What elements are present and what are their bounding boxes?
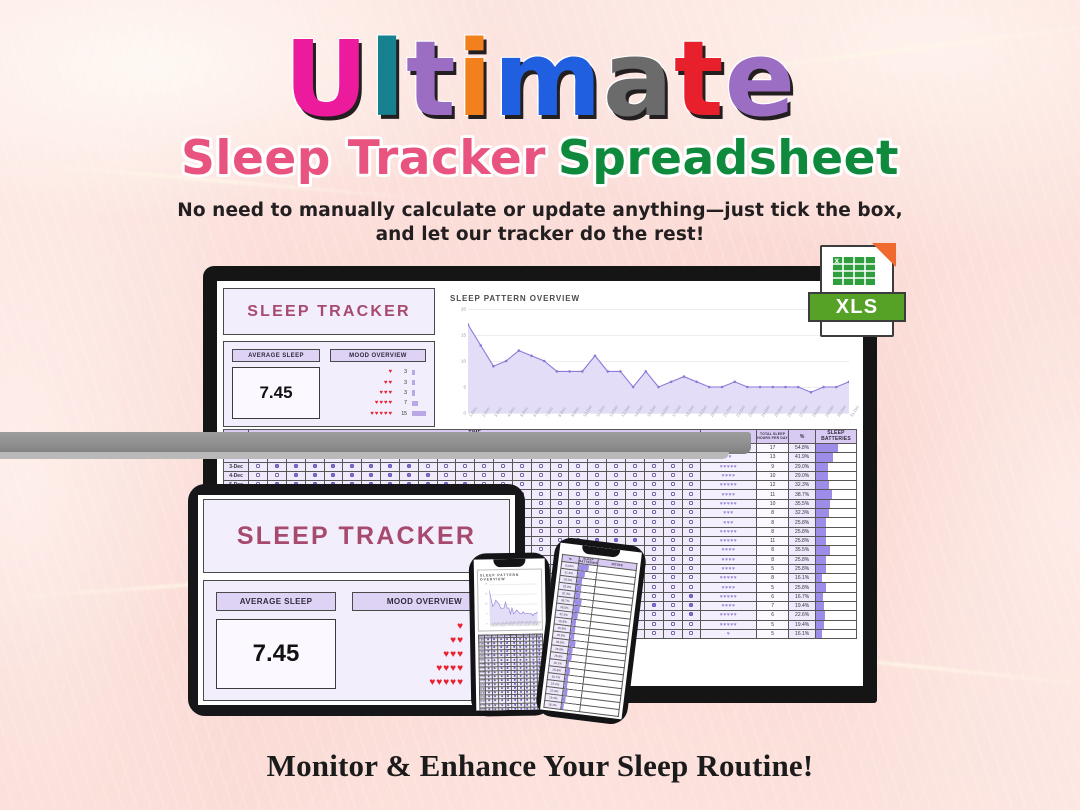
cell-time-slot[interactable]: [399, 471, 418, 480]
sleep-checkbox[interactable]: [671, 529, 675, 533]
sleep-checkbox[interactable]: [514, 687, 516, 689]
sleep-checkbox[interactable]: [652, 575, 656, 579]
sleep-checkbox[interactable]: [520, 683, 522, 685]
sleep-checkbox[interactable]: [488, 679, 490, 681]
sleep-checkbox[interactable]: [652, 464, 656, 468]
sleep-checkbox[interactable]: [595, 501, 599, 505]
sleep-checkbox[interactable]: [689, 575, 693, 579]
cell-time-slot[interactable]: [663, 471, 682, 480]
sleep-checkbox[interactable]: [576, 501, 580, 505]
sleep-checkbox[interactable]: [388, 473, 392, 477]
sleep-checkbox[interactable]: [488, 663, 490, 665]
cell-time-slot[interactable]: [682, 546, 701, 555]
sleep-checkbox[interactable]: [513, 658, 515, 660]
sleep-checkbox[interactable]: [507, 687, 509, 689]
sleep-checkbox[interactable]: [488, 700, 490, 702]
sleep-checkbox[interactable]: [501, 675, 503, 677]
sleep-checkbox[interactable]: [513, 650, 515, 652]
sleep-checkbox[interactable]: [313, 464, 317, 468]
sleep-checkbox[interactable]: [532, 642, 534, 644]
sleep-checkbox[interactable]: [671, 501, 675, 505]
cell-time-slot[interactable]: [682, 536, 701, 545]
cell-time-slot[interactable]: [512, 462, 531, 471]
sleep-checkbox[interactable]: [576, 482, 580, 486]
sleep-checkbox[interactable]: [500, 638, 502, 640]
sleep-checkbox[interactable]: [614, 538, 618, 542]
cell-time-slot[interactable]: [588, 471, 607, 480]
sleep-checkbox[interactable]: [533, 679, 535, 681]
sleep-checkbox[interactable]: [671, 612, 675, 616]
cell-time-slot[interactable]: [305, 471, 324, 480]
cell-time-slot[interactable]: [644, 602, 663, 611]
cell-time-slot[interactable]: [418, 462, 437, 471]
cell-time-slot[interactable]: [682, 611, 701, 620]
sleep-checkbox[interactable]: [652, 612, 656, 616]
sleep-checkbox[interactable]: [426, 464, 430, 468]
sleep-checkbox[interactable]: [689, 473, 693, 477]
sleep-checkbox[interactable]: [331, 473, 335, 477]
cell-time-slot[interactable]: [682, 592, 701, 601]
sleep-checkbox[interactable]: [533, 687, 535, 689]
cell-time-slot[interactable]: [286, 462, 305, 471]
sleep-checkbox[interactable]: [576, 529, 580, 533]
sleep-checkbox[interactable]: [595, 520, 599, 524]
sleep-checkbox[interactable]: [444, 473, 448, 477]
sleep-checkbox[interactable]: [538, 638, 540, 640]
sleep-checkbox[interactable]: [513, 667, 515, 669]
sleep-checkbox[interactable]: [519, 658, 521, 660]
sleep-checkbox[interactable]: [444, 464, 448, 468]
sleep-checkbox[interactable]: [526, 691, 528, 693]
sleep-checkbox[interactable]: [526, 670, 528, 672]
sleep-checkbox[interactable]: [488, 708, 490, 710]
cell-time-slot[interactable]: [607, 518, 626, 527]
sleep-checkbox[interactable]: [526, 679, 528, 681]
sleep-checkbox[interactable]: [633, 492, 637, 496]
cell-time-slot[interactable]: [569, 527, 588, 536]
cell-time-slot[interactable]: [588, 499, 607, 508]
cell-time-slot[interactable]: [644, 527, 663, 536]
cell-time-slot[interactable]: [682, 527, 701, 536]
cell-time-slot[interactable]: [663, 527, 682, 536]
sleep-checkbox[interactable]: [500, 642, 502, 644]
sleep-checkbox[interactable]: [558, 510, 562, 514]
table-row[interactable]: 4-Dec♥♥♥♥1029.0%: [224, 471, 857, 480]
cell-time-slot[interactable]: [607, 509, 626, 518]
cell-time-slot[interactable]: [550, 462, 569, 471]
cell-time-slot[interactable]: [531, 527, 550, 536]
sleep-checkbox[interactable]: [507, 654, 509, 656]
sleep-checkbox[interactable]: [533, 674, 535, 676]
sleep-checkbox[interactable]: [520, 473, 524, 477]
sleep-checkbox[interactable]: [689, 547, 693, 551]
sleep-checkbox[interactable]: [313, 473, 317, 477]
sleep-checkbox[interactable]: [494, 683, 496, 685]
sleep-checkbox[interactable]: [689, 501, 693, 505]
sleep-checkbox[interactable]: [500, 655, 502, 657]
cell-time-slot[interactable]: [663, 481, 682, 490]
sleep-checkbox[interactable]: [539, 650, 541, 652]
cell-time-slot[interactable]: [588, 490, 607, 499]
sleep-checkbox[interactable]: [652, 547, 656, 551]
cell-time-slot[interactable]: [682, 602, 701, 611]
cell-time-slot[interactable]: [267, 462, 286, 471]
sleep-checkbox[interactable]: [633, 538, 637, 542]
cell-time-slot[interactable]: [626, 462, 645, 471]
sleep-checkbox[interactable]: [689, 464, 693, 468]
sleep-checkbox[interactable]: [520, 675, 522, 677]
cell-time-slot[interactable]: [550, 527, 569, 536]
sleep-checkbox[interactable]: [513, 671, 515, 673]
sleep-checkbox[interactable]: [527, 707, 529, 709]
sleep-checkbox[interactable]: [671, 566, 675, 570]
sleep-checkbox[interactable]: [558, 520, 562, 524]
sleep-checkbox[interactable]: [532, 662, 534, 664]
sleep-checkbox[interactable]: [526, 654, 528, 656]
cell-time-slot[interactable]: [588, 509, 607, 518]
cell-time-slot[interactable]: [663, 499, 682, 508]
sleep-checkbox[interactable]: [501, 683, 503, 685]
sleep-checkbox[interactable]: [507, 671, 509, 673]
cell-time-slot[interactable]: [607, 490, 626, 499]
cell-time-slot[interactable]: [663, 509, 682, 518]
sleep-checkbox[interactable]: [526, 658, 528, 660]
sleep-checkbox[interactable]: [652, 520, 656, 524]
sleep-checkbox[interactable]: [463, 473, 467, 477]
sleep-checkbox[interactable]: [689, 631, 693, 635]
sleep-checkbox[interactable]: [331, 464, 335, 468]
cell-time-slot[interactable]: [663, 602, 682, 611]
sleep-checkbox[interactable]: [526, 683, 528, 685]
sleep-checkbox[interactable]: [671, 464, 675, 468]
sleep-checkbox[interactable]: [507, 679, 509, 681]
sleep-checkbox[interactable]: [539, 520, 543, 524]
sleep-checkbox[interactable]: [595, 510, 599, 514]
sleep-checkbox[interactable]: [407, 464, 411, 468]
sleep-checkbox[interactable]: [614, 473, 618, 477]
sleep-checkbox[interactable]: [652, 482, 656, 486]
cell-time-slot[interactable]: [663, 555, 682, 564]
cell-time-slot[interactable]: [362, 462, 381, 471]
cell-time-slot[interactable]: [531, 536, 550, 545]
sleep-checkbox[interactable]: [633, 529, 637, 533]
sleep-checkbox[interactable]: [558, 529, 562, 533]
cell-time-slot[interactable]: [588, 518, 607, 527]
sleep-checkbox[interactable]: [482, 473, 486, 477]
sleep-checkbox[interactable]: [487, 638, 489, 640]
cell-time-slot[interactable]: [682, 555, 701, 564]
sleep-checkbox[interactable]: [514, 703, 516, 705]
cell-time-slot[interactable]: [682, 462, 701, 471]
sleep-checkbox[interactable]: [689, 557, 693, 561]
sleep-checkbox[interactable]: [689, 520, 693, 524]
sleep-checkbox[interactable]: [494, 692, 496, 694]
cell-time-slot[interactable]: [588, 462, 607, 471]
sleep-checkbox[interactable]: [520, 687, 522, 689]
cell-time-slot[interactable]: [607, 481, 626, 490]
cell-time-slot[interactable]: [682, 629, 701, 638]
sleep-checkbox[interactable]: [576, 473, 580, 477]
cell-time-slot[interactable]: [663, 629, 682, 638]
sleep-checkbox[interactable]: [507, 691, 509, 693]
sleep-checkbox[interactable]: [500, 671, 502, 673]
sleep-checkbox[interactable]: [488, 667, 490, 669]
sleep-checkbox[interactable]: [633, 464, 637, 468]
cell-time-slot[interactable]: [381, 471, 400, 480]
sleep-checkbox[interactable]: [494, 675, 496, 677]
cell-time-slot[interactable]: [682, 564, 701, 573]
cell-time-slot[interactable]: [343, 462, 362, 471]
cell-time-slot[interactable]: [569, 499, 588, 508]
cell-time-slot[interactable]: [663, 611, 682, 620]
cell-time-slot[interactable]: [644, 611, 663, 620]
sleep-checkbox[interactable]: [526, 695, 528, 697]
sleep-checkbox[interactable]: [369, 473, 373, 477]
sleep-checkbox[interactable]: [513, 679, 515, 681]
sleep-checkbox[interactable]: [689, 612, 693, 616]
sleep-checkbox[interactable]: [513, 663, 515, 665]
sleep-checkbox[interactable]: [689, 585, 693, 589]
sleep-checkbox[interactable]: [652, 501, 656, 505]
sleep-checkbox[interactable]: [532, 658, 534, 660]
sleep-checkbox[interactable]: [520, 707, 522, 709]
cell-time-slot[interactable]: [550, 481, 569, 490]
sleep-checkbox[interactable]: [614, 529, 618, 533]
cell-time-slot[interactable]: [682, 518, 701, 527]
sleep-checkbox[interactable]: [652, 510, 656, 514]
sleep-checkbox[interactable]: [652, 529, 656, 533]
cell-time-slot[interactable]: [644, 564, 663, 573]
sleep-checkbox[interactable]: [689, 603, 693, 607]
cell-time-slot[interactable]: [569, 471, 588, 480]
sleep-checkbox[interactable]: [507, 663, 509, 665]
sleep-checkbox[interactable]: [614, 510, 618, 514]
cell-time-slot[interactable]: [663, 620, 682, 629]
sleep-checkbox[interactable]: [538, 646, 540, 648]
sleep-checkbox[interactable]: [689, 594, 693, 598]
cell-time-slot[interactable]: [569, 518, 588, 527]
sleep-checkbox[interactable]: [595, 482, 599, 486]
sleep-checkbox[interactable]: [488, 683, 490, 685]
sleep-checkbox[interactable]: [256, 473, 260, 477]
sleep-checkbox[interactable]: [532, 654, 534, 656]
sleep-checkbox[interactable]: [533, 683, 535, 685]
cell-time-slot[interactable]: [663, 462, 682, 471]
sleep-checkbox[interactable]: [633, 482, 637, 486]
sleep-checkbox[interactable]: [514, 695, 516, 697]
cell-time-slot[interactable]: [588, 527, 607, 536]
sleep-checkbox[interactable]: [525, 638, 527, 640]
sleep-checkbox[interactable]: [652, 492, 656, 496]
sleep-checkbox[interactable]: [501, 708, 503, 710]
cell-time-slot[interactable]: [531, 481, 550, 490]
cell-time-slot[interactable]: [475, 471, 494, 480]
cell-time-slot[interactable]: [381, 462, 400, 471]
cell-time-slot[interactable]: [644, 555, 663, 564]
sleep-checkbox[interactable]: [519, 654, 521, 656]
cell-time-slot[interactable]: [663, 546, 682, 555]
sleep-checkbox[interactable]: [500, 667, 502, 669]
cell-time-slot[interactable]: [607, 462, 626, 471]
sleep-checkbox[interactable]: [495, 696, 497, 698]
cell-time-slot[interactable]: [663, 592, 682, 601]
sleep-checkbox[interactable]: [539, 547, 543, 551]
sleep-checkbox[interactable]: [526, 687, 528, 689]
sleep-checkbox[interactable]: [652, 603, 656, 607]
sleep-checkbox[interactable]: [539, 473, 543, 477]
cell-time-slot[interactable]: [324, 462, 343, 471]
sleep-checkbox[interactable]: [488, 671, 490, 673]
sleep-checkbox[interactable]: [614, 520, 618, 524]
sleep-checkbox[interactable]: [500, 646, 502, 648]
cell-time-slot[interactable]: [249, 471, 268, 480]
sleep-checkbox[interactable]: [689, 566, 693, 570]
sleep-checkbox[interactable]: [275, 473, 279, 477]
sleep-checkbox[interactable]: [463, 464, 467, 468]
sleep-checkbox[interactable]: [526, 675, 528, 677]
cell-time-slot[interactable]: [663, 583, 682, 592]
sleep-checkbox[interactable]: [652, 557, 656, 561]
cell-time-slot[interactable]: [343, 471, 362, 480]
sleep-checkbox[interactable]: [689, 538, 693, 542]
sleep-checkbox[interactable]: [501, 691, 503, 693]
cell-time-slot[interactable]: [324, 471, 343, 480]
cell-time-slot[interactable]: [626, 499, 645, 508]
sleep-checkbox[interactable]: [520, 691, 522, 693]
sleep-checkbox[interactable]: [652, 538, 656, 542]
sleep-checkbox[interactable]: [526, 662, 528, 664]
sleep-checkbox[interactable]: [652, 585, 656, 589]
cell-time-slot[interactable]: [569, 509, 588, 518]
sleep-checkbox[interactable]: [671, 538, 675, 542]
sleep-checkbox[interactable]: [633, 473, 637, 477]
sleep-checkbox[interactable]: [520, 695, 522, 697]
cell-time-slot[interactable]: [531, 471, 550, 480]
sleep-checkbox[interactable]: [558, 473, 562, 477]
sleep-checkbox[interactable]: [514, 708, 516, 710]
sleep-checkbox[interactable]: [507, 704, 509, 706]
sleep-checkbox[interactable]: [558, 501, 562, 505]
sleep-checkbox[interactable]: [671, 547, 675, 551]
sleep-checkbox[interactable]: [595, 492, 599, 496]
sleep-checkbox[interactable]: [652, 566, 656, 570]
sleep-checkbox[interactable]: [671, 520, 675, 524]
sleep-checkbox[interactable]: [495, 708, 497, 710]
sleep-checkbox[interactable]: [558, 482, 562, 486]
cell-time-slot[interactable]: [588, 481, 607, 490]
sleep-checkbox[interactable]: [294, 473, 298, 477]
sleep-checkbox[interactable]: [494, 687, 496, 689]
cell-time-slot[interactable]: [249, 462, 268, 471]
sleep-checkbox[interactable]: [532, 670, 534, 672]
phone-right-table[interactable]: %SLEEP BATTERIESNOTES54.8%41.9%29.0%29.0…: [543, 554, 637, 717]
sleep-checkbox[interactable]: [294, 464, 298, 468]
sleep-checkbox[interactable]: [671, 473, 675, 477]
sleep-checkbox[interactable]: [539, 529, 543, 533]
cell-time-slot[interactable]: [644, 574, 663, 583]
sleep-checkbox[interactable]: [633, 520, 637, 524]
cell-time-slot[interactable]: [682, 574, 701, 583]
sleep-checkbox[interactable]: [494, 638, 496, 640]
sleep-checkbox[interactable]: [507, 699, 509, 701]
sleep-checkbox[interactable]: [526, 642, 528, 644]
sleep-checkbox[interactable]: [671, 575, 675, 579]
sleep-checkbox[interactable]: [275, 464, 279, 468]
sleep-checkbox[interactable]: [689, 510, 693, 514]
cell-time-slot[interactable]: [663, 564, 682, 573]
sleep-checkbox[interactable]: [500, 659, 502, 661]
sleep-checkbox[interactable]: [494, 651, 496, 653]
sleep-checkbox[interactable]: [671, 594, 675, 598]
cell-time-slot[interactable]: [531, 518, 550, 527]
sleep-checkbox[interactable]: [614, 464, 618, 468]
sleep-checkbox[interactable]: [513, 683, 515, 685]
sleep-checkbox[interactable]: [488, 659, 490, 661]
sleep-checkbox[interactable]: [671, 603, 675, 607]
sleep-checkbox[interactable]: [501, 473, 505, 477]
sleep-checkbox[interactable]: [513, 675, 515, 677]
sleep-checkbox[interactable]: [576, 492, 580, 496]
cell-time-slot[interactable]: [531, 499, 550, 508]
cell-time-slot[interactable]: [644, 518, 663, 527]
cell-time-slot[interactable]: [531, 509, 550, 518]
sleep-checkbox[interactable]: [500, 650, 502, 652]
sleep-checkbox[interactable]: [652, 594, 656, 598]
sleep-checkbox[interactable]: [506, 646, 508, 648]
sleep-checkbox[interactable]: [519, 646, 521, 648]
sleep-checkbox[interactable]: [494, 642, 496, 644]
sleep-checkbox[interactable]: [671, 492, 675, 496]
sleep-checkbox[interactable]: [671, 631, 675, 635]
sleep-checkbox[interactable]: [520, 671, 522, 673]
sleep-checkbox[interactable]: [533, 691, 535, 693]
sleep-checkbox[interactable]: [520, 703, 522, 705]
cell-time-slot[interactable]: [644, 592, 663, 601]
sleep-checkbox[interactable]: [614, 482, 618, 486]
sleep-checkbox[interactable]: [350, 473, 354, 477]
table-row[interactable]: 3-Dec♥♥♥♥♥929.0%: [224, 462, 857, 471]
sleep-checkbox[interactable]: [533, 695, 535, 697]
cell-time-slot[interactable]: [456, 471, 475, 480]
cell-time-slot[interactable]: [550, 518, 569, 527]
sleep-checkbox[interactable]: [614, 492, 618, 496]
sleep-checkbox[interactable]: [501, 704, 503, 706]
cell-time-slot[interactable]: [569, 462, 588, 471]
cell-time-slot[interactable]: [607, 527, 626, 536]
cell-time-slot[interactable]: [663, 536, 682, 545]
sleep-checkbox[interactable]: [539, 510, 543, 514]
sleep-checkbox[interactable]: [488, 692, 490, 694]
cell-time-slot[interactable]: [475, 462, 494, 471]
cell-time-slot[interactable]: [626, 490, 645, 499]
sleep-checkbox[interactable]: [689, 529, 693, 533]
sleep-checkbox[interactable]: [507, 695, 509, 697]
cell-time-slot[interactable]: [550, 509, 569, 518]
sleep-checkbox[interactable]: [488, 704, 490, 706]
cell-time-slot[interactable]: [531, 490, 550, 499]
sleep-checkbox[interactable]: [513, 654, 515, 656]
cell-time-slot[interactable]: [682, 583, 701, 592]
sleep-checkbox[interactable]: [595, 464, 599, 468]
sleep-checkbox[interactable]: [520, 662, 522, 664]
sleep-checkbox[interactable]: [488, 675, 490, 677]
sleep-checkbox[interactable]: [532, 638, 534, 640]
cell-time-slot[interactable]: [626, 527, 645, 536]
sleep-checkbox[interactable]: [494, 655, 496, 657]
sleep-checkbox[interactable]: [526, 646, 528, 648]
sleep-checkbox[interactable]: [369, 464, 373, 468]
cell-time-slot[interactable]: [607, 499, 626, 508]
